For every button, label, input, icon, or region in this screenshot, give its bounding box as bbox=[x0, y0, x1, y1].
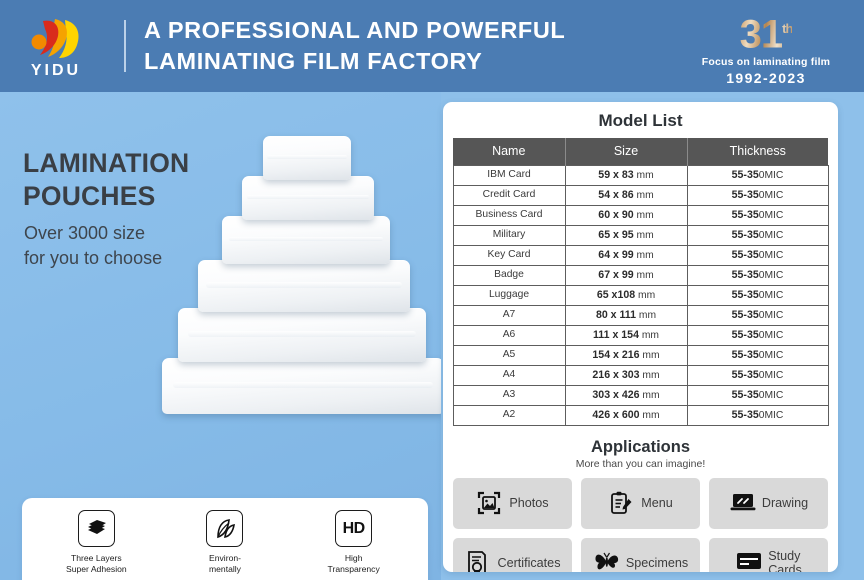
cell-size: 67 x 99 mm bbox=[565, 265, 687, 285]
cell-size: 80 x 111 mm bbox=[565, 305, 687, 325]
feature-label: Environ- mentally bbox=[209, 553, 241, 575]
application-label: Menu bbox=[641, 496, 673, 510]
cell-thickness: 55-350MIC bbox=[687, 285, 828, 305]
cell-size: 303 x 426 mm bbox=[565, 385, 687, 405]
table-row: A5154 x 216 mm55-350MIC bbox=[453, 345, 828, 365]
cell-size: 154 x 216 mm bbox=[565, 345, 687, 365]
application-tile-specimens[interactable]: Specimens bbox=[581, 538, 700, 573]
cell-size: 54 x 86 mm bbox=[565, 185, 687, 205]
features-card: Three Layers Super Adhesion Environ- men… bbox=[22, 498, 428, 580]
leaf-icon bbox=[206, 510, 243, 547]
pouch-layer bbox=[198, 260, 410, 312]
anniversary-number: 31th bbox=[740, 9, 793, 54]
table-header-row: Name Size Thickness bbox=[453, 138, 828, 165]
application-label: Specimens bbox=[626, 556, 688, 570]
cell-thickness: 55-350MIC bbox=[687, 265, 828, 285]
page-header: YIDU A PROFESSIONAL AND POWERFUL LAMINAT… bbox=[0, 0, 864, 92]
application-label: Drawing bbox=[762, 496, 808, 510]
application-label: Photos bbox=[509, 496, 548, 510]
column-header-thickness: Thickness bbox=[687, 138, 828, 165]
header-headline: A PROFESSIONAL AND POWERFUL LAMINATING F… bbox=[144, 15, 668, 77]
right-panel: Model List Name Size Thickness IBM Card5… bbox=[443, 102, 838, 572]
application-tile-menu[interactable]: Menu bbox=[581, 478, 700, 529]
anniversary-digits: 31 bbox=[740, 13, 783, 57]
cell-thickness: 55-350MIC bbox=[687, 365, 828, 385]
cell-name: Key Card bbox=[453, 245, 565, 265]
pouch-layer bbox=[263, 136, 351, 180]
applications-title: Applications bbox=[443, 438, 838, 457]
cell-name: Luggage bbox=[453, 285, 565, 305]
feature-label: Three Layers Super Adhesion bbox=[66, 553, 127, 575]
cell-size: 426 x 600 mm bbox=[565, 405, 687, 425]
column-header-size: Size bbox=[565, 138, 687, 165]
headline-line-1: A PROFESSIONAL AND POWERFUL bbox=[144, 15, 668, 46]
anniversary-tagline: Focus on laminating film bbox=[702, 56, 830, 68]
pouch-layer bbox=[162, 358, 441, 414]
pouch-layer bbox=[242, 176, 374, 220]
certificate-icon bbox=[465, 550, 491, 572]
photo-frame-icon bbox=[476, 490, 502, 516]
table-row: Military65 x 95 mm55-350MIC bbox=[453, 225, 828, 245]
cell-size: 59 x 83 mm bbox=[565, 165, 687, 185]
cell-name: A3 bbox=[453, 385, 565, 405]
cell-thickness: 55-350MIC bbox=[687, 225, 828, 245]
butterfly-icon bbox=[593, 550, 619, 572]
table-row: Luggage65 x108 mm55-350MIC bbox=[453, 285, 828, 305]
cell-size: 60 x 90 mm bbox=[565, 205, 687, 225]
cell-size: 65 x108 mm bbox=[565, 285, 687, 305]
cell-thickness: 55-350MIC bbox=[687, 245, 828, 265]
cell-name: A5 bbox=[453, 345, 565, 365]
pouch-layer bbox=[222, 216, 390, 264]
application-label: Study Cards bbox=[768, 549, 802, 572]
anniversary-years: 1992-2023 bbox=[726, 70, 806, 86]
header-divider bbox=[124, 20, 126, 72]
table-row: Credit Card54 x 86 mm55-350MIC bbox=[453, 185, 828, 205]
cell-thickness: 55-350MIC bbox=[687, 385, 828, 405]
left-panel: LAMINATION POUCHES Over 3000 size for yo… bbox=[0, 92, 441, 580]
cell-thickness: 55-350MIC bbox=[687, 185, 828, 205]
cell-thickness: 55-350MIC bbox=[687, 205, 828, 225]
feature-environmentally: Environ- mentally bbox=[161, 510, 290, 580]
application-tile-photos[interactable]: Photos bbox=[453, 478, 572, 529]
cell-thickness: 55-350MIC bbox=[687, 325, 828, 345]
cell-name: Credit Card bbox=[453, 185, 565, 205]
cell-name: Badge bbox=[453, 265, 565, 285]
pouch-layer bbox=[178, 308, 426, 362]
menu-clipboard-icon bbox=[608, 490, 634, 516]
table-row: A780 x 111 mm55-350MIC bbox=[453, 305, 828, 325]
anniversary-badge: 31th Focus on laminating film 1992-2023 bbox=[668, 0, 864, 92]
model-list-table: Name Size Thickness IBM Card59 x 83 mm55… bbox=[453, 138, 829, 426]
laptop-drawing-icon bbox=[729, 490, 755, 516]
cell-name: Military bbox=[453, 225, 565, 245]
anniversary-superscript: th bbox=[782, 21, 792, 36]
table-row: Business Card60 x 90 mm55-350MIC bbox=[453, 205, 828, 225]
table-row: IBM Card59 x 83 mm55-350MIC bbox=[453, 165, 828, 185]
subtitle-line-1: Over 3000 size bbox=[24, 221, 162, 246]
feature-high-transparency: HD High Transparency bbox=[289, 510, 418, 580]
cell-thickness: 55-350MIC bbox=[687, 405, 828, 425]
feature-label: High Transparency bbox=[328, 553, 380, 575]
headline-line-2: LAMINATING FILM FACTORY bbox=[144, 46, 668, 77]
table-row: Badge67 x 99 mm55-350MIC bbox=[453, 265, 828, 285]
table-row: A2426 x 600 mm55-350MIC bbox=[453, 405, 828, 425]
card-icon bbox=[735, 550, 761, 572]
applications-subtitle: More than you can imagine! bbox=[443, 458, 838, 470]
application-tile-certificates[interactable]: Certificates bbox=[453, 538, 572, 573]
cell-name: A6 bbox=[453, 325, 565, 345]
application-label: Certificates bbox=[498, 556, 561, 570]
cell-thickness: 55-350MIC bbox=[687, 165, 828, 185]
applications-grid: Photos Menu bbox=[453, 478, 828, 573]
table-row: A6111 x 154 mm55-350MIC bbox=[453, 325, 828, 345]
hd-icon: HD bbox=[335, 510, 372, 547]
hd-text: HD bbox=[343, 520, 365, 538]
cell-size: 216 x 303 mm bbox=[565, 365, 687, 385]
cell-size: 65 x 95 mm bbox=[565, 225, 687, 245]
cell-thickness: 55-350MIC bbox=[687, 305, 828, 325]
page-subtitle: Over 3000 size for you to choose bbox=[24, 221, 162, 271]
three-layers-icon bbox=[78, 510, 115, 547]
feature-three-layers: Three Layers Super Adhesion bbox=[32, 510, 161, 580]
cell-thickness: 55-350MIC bbox=[687, 345, 828, 365]
cell-size: 111 x 154 mm bbox=[565, 325, 687, 345]
brand-logo[interactable]: YIDU bbox=[0, 0, 112, 92]
column-header-name: Name bbox=[453, 138, 565, 165]
cell-name: A4 bbox=[453, 365, 565, 385]
application-tile-study-cards[interactable]: Study Cards bbox=[709, 538, 828, 573]
table-row: A3303 x 426 mm55-350MIC bbox=[453, 385, 828, 405]
yidu-logo-icon bbox=[25, 17, 87, 61]
subtitle-line-2: for you to choose bbox=[24, 246, 162, 271]
cell-size: 64 x 99 mm bbox=[565, 245, 687, 265]
table-row: A4216 x 303 mm55-350MIC bbox=[453, 365, 828, 385]
model-list-title: Model List bbox=[443, 102, 838, 138]
cell-name: A2 bbox=[453, 405, 565, 425]
table-row: Key Card64 x 99 mm55-350MIC bbox=[453, 245, 828, 265]
product-image-pouch-stack bbox=[160, 132, 441, 442]
cell-name: IBM Card bbox=[453, 165, 565, 185]
application-tile-drawing[interactable]: Drawing bbox=[709, 478, 828, 529]
cell-name: A7 bbox=[453, 305, 565, 325]
cell-name: Business Card bbox=[453, 205, 565, 225]
brand-name: YIDU bbox=[31, 62, 81, 80]
